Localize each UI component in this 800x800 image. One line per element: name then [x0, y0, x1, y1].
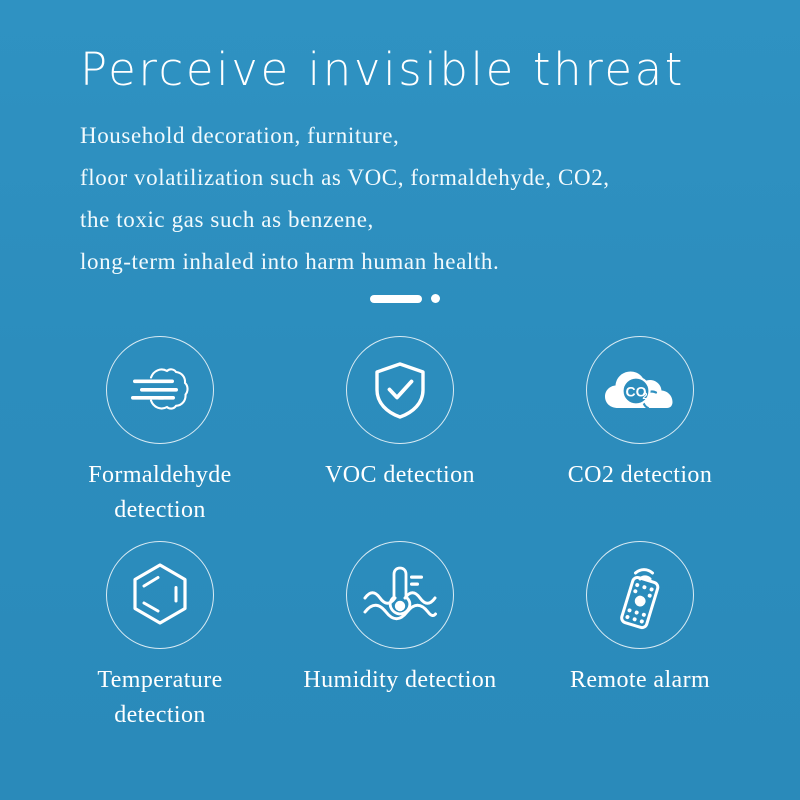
- description-line-4: long-term inhaled into harm human health…: [80, 241, 780, 283]
- description-paragraph: Household decoration, furniture, floor v…: [80, 115, 780, 283]
- feature-item-temperature[interactable]: Temperature detection: [40, 541, 280, 733]
- description-line-3: the toxic gas such as benzene,: [80, 199, 780, 241]
- page-title: Perceive invisible threat: [80, 42, 760, 98]
- icon-ring: [106, 336, 214, 444]
- icon-ring: [586, 541, 694, 649]
- feature-label: Formaldehyde detection: [58, 458, 263, 528]
- divider-dot-icon: [431, 294, 440, 303]
- smoke-cloud-icon: [129, 362, 191, 418]
- feature-item-co2[interactable]: CO 2 CO2 detection: [520, 336, 760, 528]
- description-line-2: floor volatilization such as VOC, formal…: [80, 157, 780, 199]
- feature-label: Remote alarm: [570, 663, 710, 698]
- feature-item-remote-alarm[interactable]: Remote alarm: [520, 541, 760, 733]
- feature-grid: Formaldehyde detection VOC detection: [40, 336, 760, 733]
- co2-badge-subscript: 2: [642, 391, 647, 401]
- feature-label: Humidity detection: [303, 663, 496, 698]
- benzene-hexagon-icon: [129, 562, 191, 628]
- thermometer-water-icon: [362, 564, 438, 626]
- divider-bar: [370, 295, 422, 303]
- icon-ring: [346, 336, 454, 444]
- description-line-1: Household decoration, furniture,: [80, 115, 780, 157]
- feature-item-humidity[interactable]: Humidity detection: [280, 541, 520, 733]
- feature-label: CO2 detection: [568, 458, 713, 493]
- feature-label: Temperature detection: [58, 663, 263, 733]
- icon-ring: CO 2: [586, 336, 694, 444]
- section-divider: [370, 294, 440, 303]
- feature-item-formaldehyde[interactable]: Formaldehyde detection: [40, 336, 280, 528]
- poster-root: Perceive invisible threat Household deco…: [0, 0, 800, 800]
- remote-signal-icon: [609, 560, 671, 630]
- co2-cloud-icon: CO 2: [604, 364, 676, 416]
- shield-check-icon: [373, 360, 427, 420]
- icon-ring: [106, 541, 214, 649]
- icon-ring: [346, 541, 454, 649]
- feature-item-voc[interactable]: VOC detection: [280, 336, 520, 528]
- feature-label: VOC detection: [325, 458, 475, 493]
